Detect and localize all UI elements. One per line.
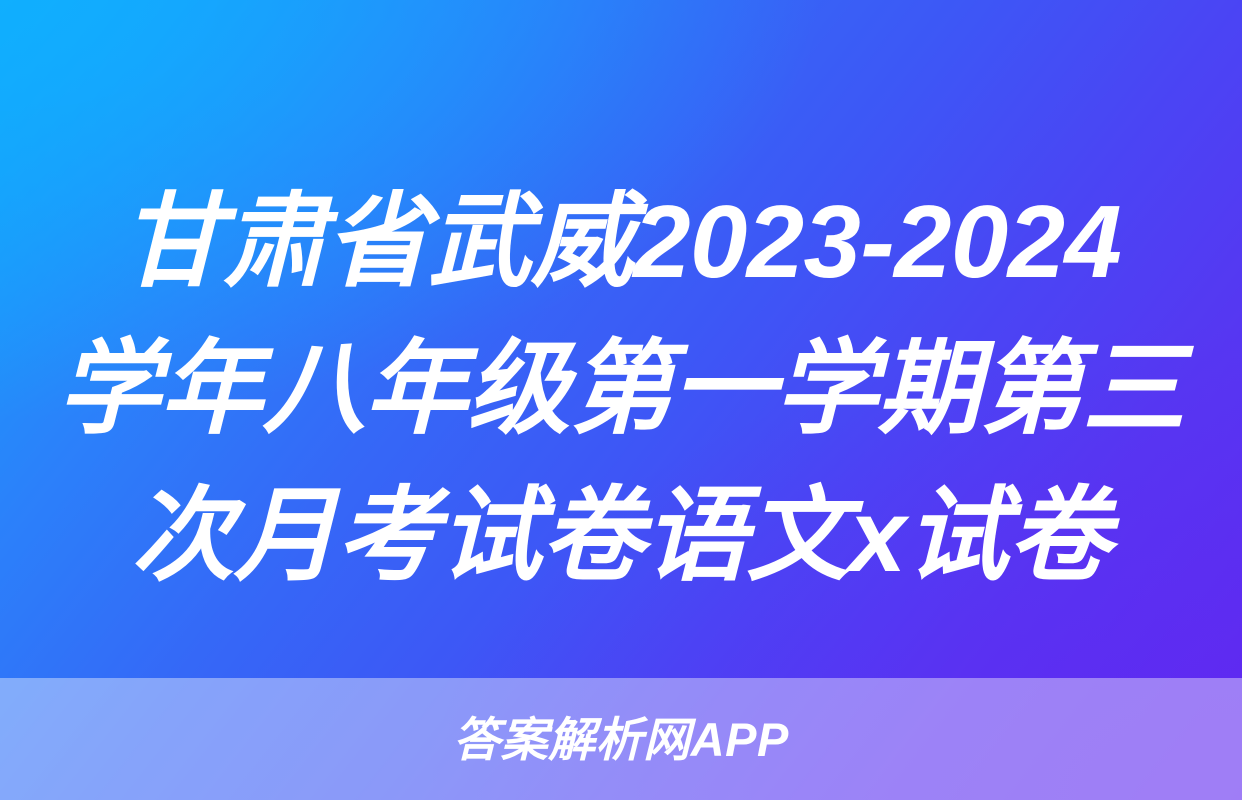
footer-brand-band: 答案解析网APP <box>0 678 1242 800</box>
poster-canvas: 甘肃省武威2023-2024 学年八年级第一学期第三 次月考试卷语文x试卷 答案… <box>0 0 1242 800</box>
title-line-2: 学年八年级第一学期第三 <box>34 315 1208 462</box>
title-line-3: 次月考试卷语文x试卷 <box>34 462 1208 609</box>
app-brand-label: 答案解析网APP <box>453 716 789 763</box>
title-line-1: 甘肃省武威2023-2024 <box>34 168 1208 315</box>
page-title: 甘肃省武威2023-2024 学年八年级第一学期第三 次月考试卷语文x试卷 <box>0 168 1242 609</box>
